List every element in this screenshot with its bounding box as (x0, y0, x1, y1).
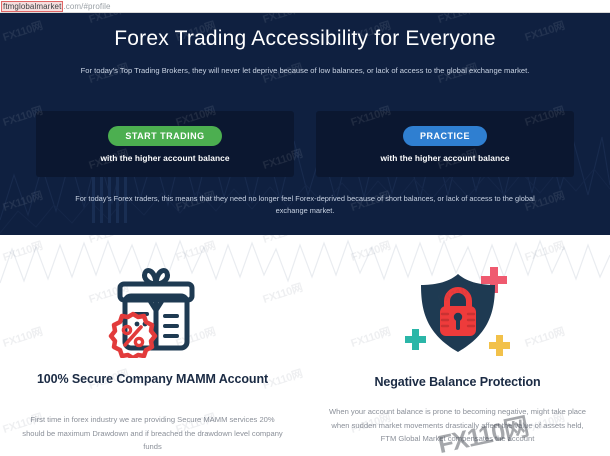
feature-body: First time in forex industry we are prov… (22, 413, 283, 454)
watermark: FX110网 (436, 13, 480, 27)
practice-note: with the higher account balance (380, 153, 509, 163)
browser-url-bar[interactable]: ftmglobalmarket.com/#profile (0, 0, 610, 13)
watermark: FX110网 (261, 13, 305, 27)
feature-negative-balance-protection: Negative Balance Protection When your ac… (305, 235, 610, 456)
url-fragment: #profile (83, 2, 110, 11)
page-root: ftmglobalmarket.com/#profile Forex Tradi… (0, 0, 610, 456)
practice-card[interactable]: PRACTICE with the higher account balance (316, 111, 574, 177)
features-section: 100% Secure Company MAMM Account First t… (0, 235, 610, 456)
feature-title: 100% Secure Company MAMM Account (18, 371, 287, 388)
watermark: FX110网 (87, 13, 131, 27)
url-path: .com/ (63, 2, 83, 11)
hero-cards: START TRADING with the higher account ba… (36, 111, 574, 177)
shield-lock-icon (305, 264, 610, 359)
watermark: FX110网 (1, 187, 45, 215)
gift-box-percent-icon (0, 264, 305, 359)
start-trading-button[interactable]: START TRADING (108, 126, 221, 146)
feature-mamm-account: 100% Secure Company MAMM Account First t… (0, 235, 305, 456)
hero-footer-text: For today's Forex traders, this means th… (70, 193, 540, 217)
feature-title: Negative Balance Protection (323, 374, 592, 391)
start-trading-card[interactable]: START TRADING with the higher account ba… (36, 111, 294, 177)
url-text: ftmglobalmarket.com/#profile (1, 1, 111, 12)
feature-body: When your account balance is prone to be… (327, 405, 588, 446)
page-title: Forex Trading Accessibility for Everyone (0, 27, 610, 51)
start-trading-note: with the higher account balance (100, 153, 229, 163)
hero-subtitle: For today's Top Trading Brokers, they wi… (55, 65, 555, 77)
features-grid: 100% Secure Company MAMM Account First t… (0, 235, 610, 456)
hero-section: Forex Trading Accessibility for Everyone… (0, 13, 610, 235)
url-host-highlight: ftmglobalmarket (1, 1, 63, 12)
practice-button[interactable]: PRACTICE (403, 126, 487, 146)
